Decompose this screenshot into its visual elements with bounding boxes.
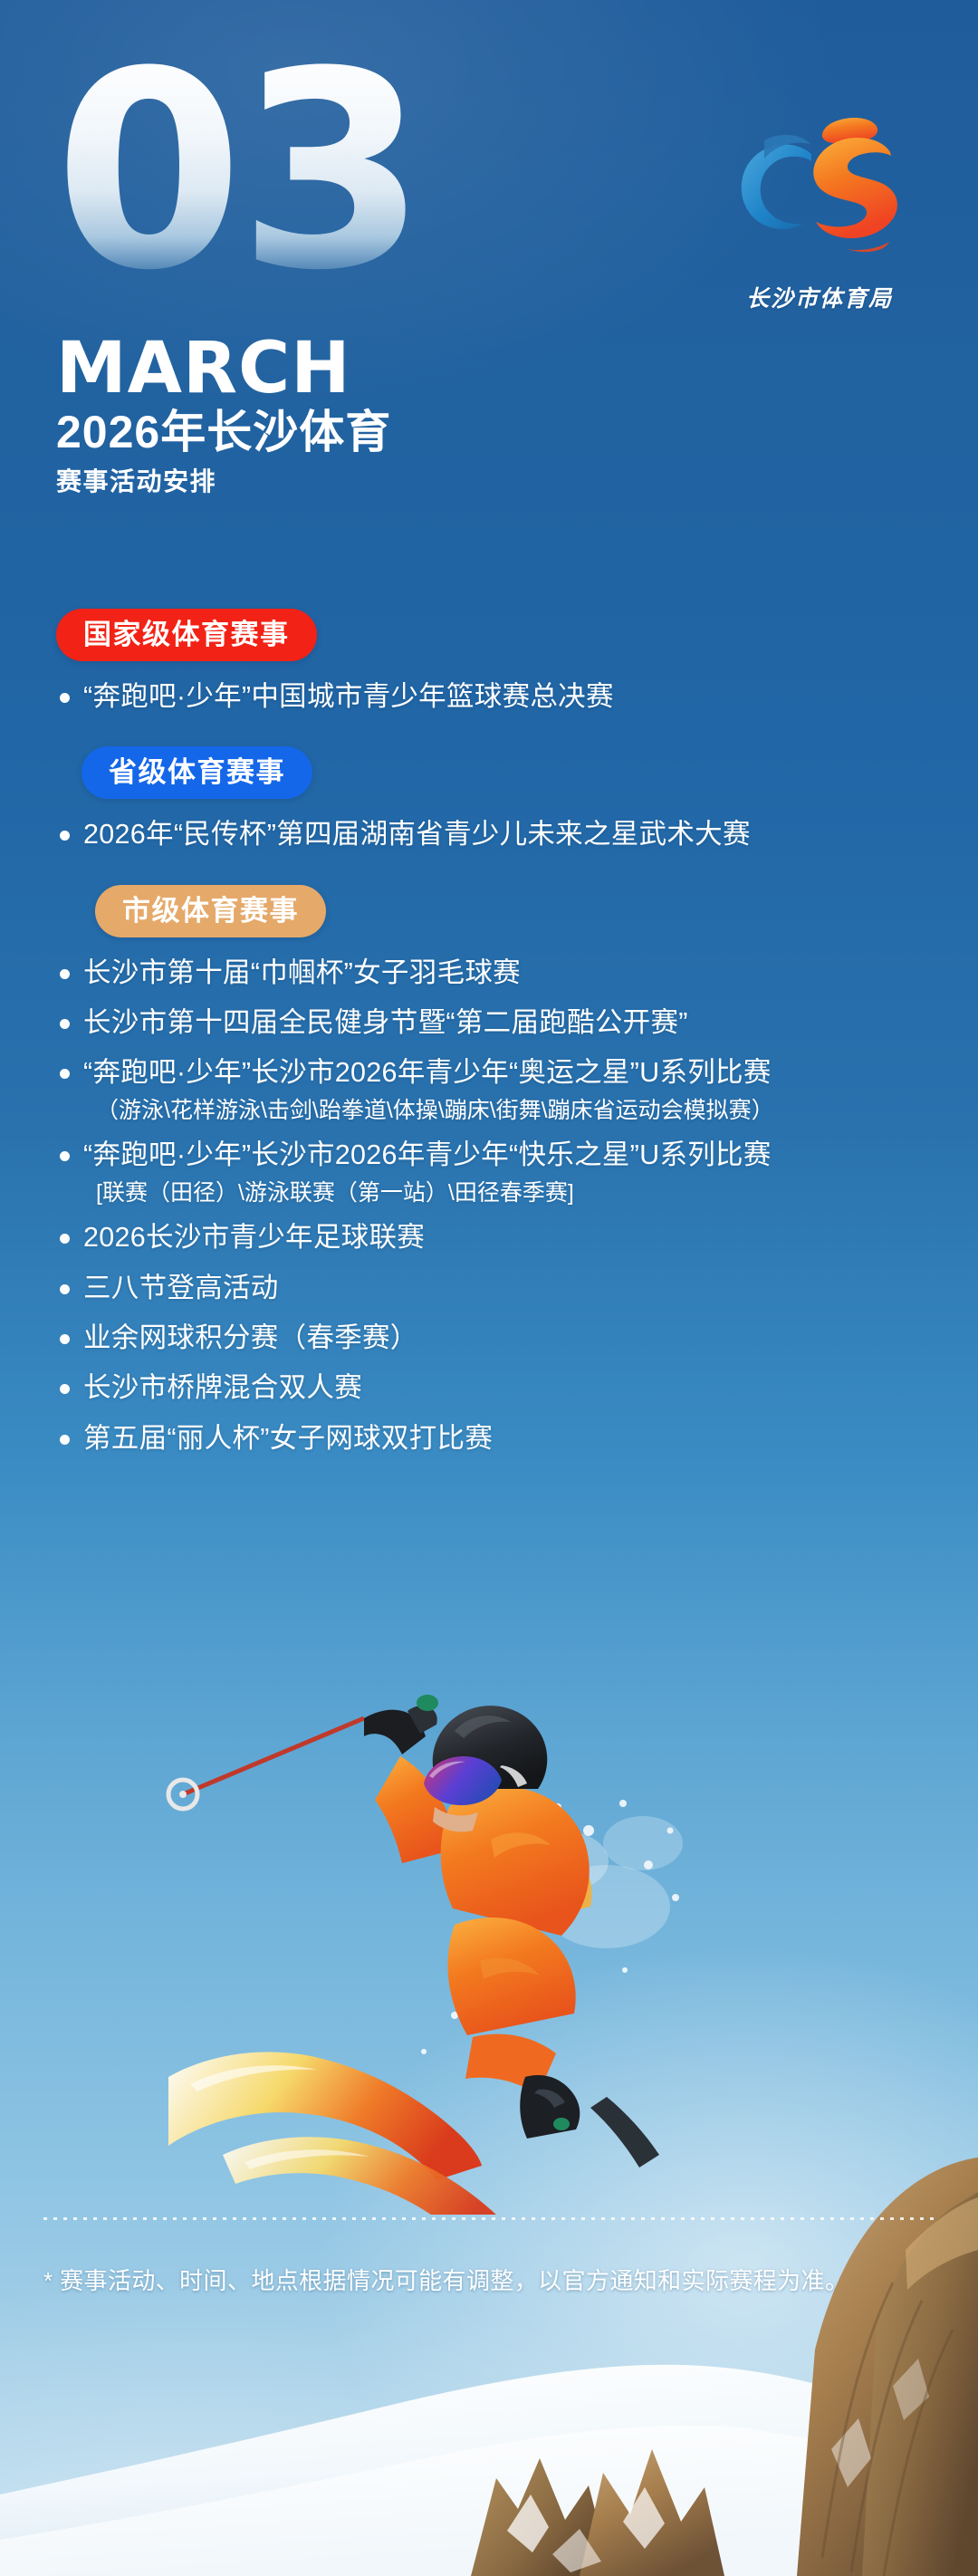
month-name: MARCH bbox=[56, 333, 351, 404]
list-item: 三八节登高活动 bbox=[56, 1267, 978, 1309]
page-title: 2026年长沙体育 bbox=[56, 409, 391, 455]
event-title: “奔跑吧·少年”长沙市2026年青少年“快乐之星”U系列比赛 bbox=[83, 1139, 772, 1170]
poster: 03 MARCH 2026年长沙体育 赛事活动安排 bbox=[0, 0, 978, 2576]
event-subtitle: （游泳\花样游泳\击剑\跆拳道\体操\蹦床\街舞\蹦床省运动会模拟赛） bbox=[83, 1095, 978, 1127]
event-title: 三八节登高活动 bbox=[83, 1273, 279, 1303]
list-item: 2026长沙市青少年足球联赛 bbox=[56, 1216, 978, 1258]
list-item: 长沙市第十届“巾帼杯”女子羽毛球赛 bbox=[56, 952, 978, 994]
section-badge-provincial: 省级体育赛事 bbox=[81, 746, 312, 799]
event-title: 长沙市第十届“巾帼杯”女子羽毛球赛 bbox=[83, 957, 521, 988]
section-badge-municipal: 市级体育赛事 bbox=[95, 885, 326, 937]
ski-pole bbox=[168, 1718, 364, 1809]
section-national: 国家级体育赛事 “奔跑吧·少年”中国城市青少年篮球赛总决赛 bbox=[0, 609, 978, 717]
section-municipal: 市级体育赛事 长沙市第十届“巾帼杯”女子羽毛球赛 长沙市第十四届全民健身节暨“第… bbox=[0, 885, 978, 1459]
section-provincial: 省级体育赛事 2026年“民传杯”第四届湖南省青少儿未来之星武术大赛 bbox=[0, 746, 978, 855]
logo-caption: 长沙市体育局 bbox=[715, 281, 924, 313]
list-item: 长沙市桥牌混合双人赛 bbox=[56, 1367, 978, 1408]
event-title: 第五届“丽人杯”女子网球双打比赛 bbox=[83, 1423, 493, 1454]
changsha-sports-bureau-logo-icon bbox=[724, 111, 915, 278]
event-list-municipal: 长沙市第十届“巾帼杯”女子羽毛球赛 长沙市第十四届全民健身节暨“第二届跑酷公开赛… bbox=[0, 952, 978, 1459]
event-subtitle: [联赛（田径）\游泳联赛（第一站）\田径春季赛] bbox=[83, 1177, 978, 1209]
snowy-mountain-illustration bbox=[0, 2069, 978, 2576]
event-list-national: “奔跑吧·少年”中国城市青少年篮球赛总决赛 bbox=[0, 676, 978, 717]
event-title: “奔跑吧·少年”中国城市青少年篮球赛总决赛 bbox=[83, 681, 614, 712]
list-item: 第五届“丽人杯”女子网球双打比赛 bbox=[56, 1418, 978, 1459]
list-item: “奔跑吧·少年”长沙市2026年青少年“奥运之星”U系列比赛 （游泳\花样游泳\… bbox=[56, 1052, 978, 1126]
logo: 长沙市体育局 bbox=[715, 111, 924, 337]
list-item: “奔跑吧·少年”长沙市2026年青少年“快乐之星”U系列比赛 [联赛（田径）\游… bbox=[56, 1134, 978, 1208]
event-list-provincial: 2026年“民传杯”第四届湖南省青少儿未来之星武术大赛 bbox=[0, 813, 978, 855]
event-title: 长沙市第十四届全民健身节暨“第二届跑酷公开赛” bbox=[83, 1007, 688, 1038]
list-item: “奔跑吧·少年”中国城市青少年篮球赛总决赛 bbox=[56, 676, 978, 717]
section-badge-national: 国家级体育赛事 bbox=[56, 609, 317, 661]
footer-note: * 赛事活动、时间、地点根据情况可能有调整，以官方通知和实际赛程为准。 bbox=[43, 2264, 949, 2297]
event-title: 2026长沙市青少年足球联赛 bbox=[83, 1222, 425, 1253]
list-item: 长沙市第十四届全民健身节暨“第二届跑酷公开赛” bbox=[56, 1002, 978, 1043]
event-title: 2026年“民传杯”第四届湖南省青少儿未来之星武术大赛 bbox=[83, 819, 751, 850]
page-subtitle: 赛事活动安排 bbox=[56, 469, 216, 495]
list-item: 2026年“民传杯”第四届湖南省青少儿未来之星武术大赛 bbox=[56, 813, 978, 855]
list-item: 业余网球积分赛（春季赛） bbox=[56, 1317, 978, 1359]
event-sections: 国家级体育赛事 “奔跑吧·少年”中国城市青少年篮球赛总决赛 省级体育赛事 202… bbox=[0, 609, 978, 1467]
footer-divider bbox=[43, 2217, 935, 2220]
poster-header: 03 MARCH 2026年长沙体育 赛事活动安排 bbox=[0, 0, 978, 580]
event-title: 业余网球积分赛（春季赛） bbox=[83, 1322, 418, 1353]
event-title: “奔跑吧·少年”长沙市2026年青少年“奥运之星”U系列比赛 bbox=[83, 1057, 772, 1088]
month-number: 03 bbox=[54, 47, 421, 297]
event-title: 长沙市桥牌混合双人赛 bbox=[83, 1372, 362, 1403]
